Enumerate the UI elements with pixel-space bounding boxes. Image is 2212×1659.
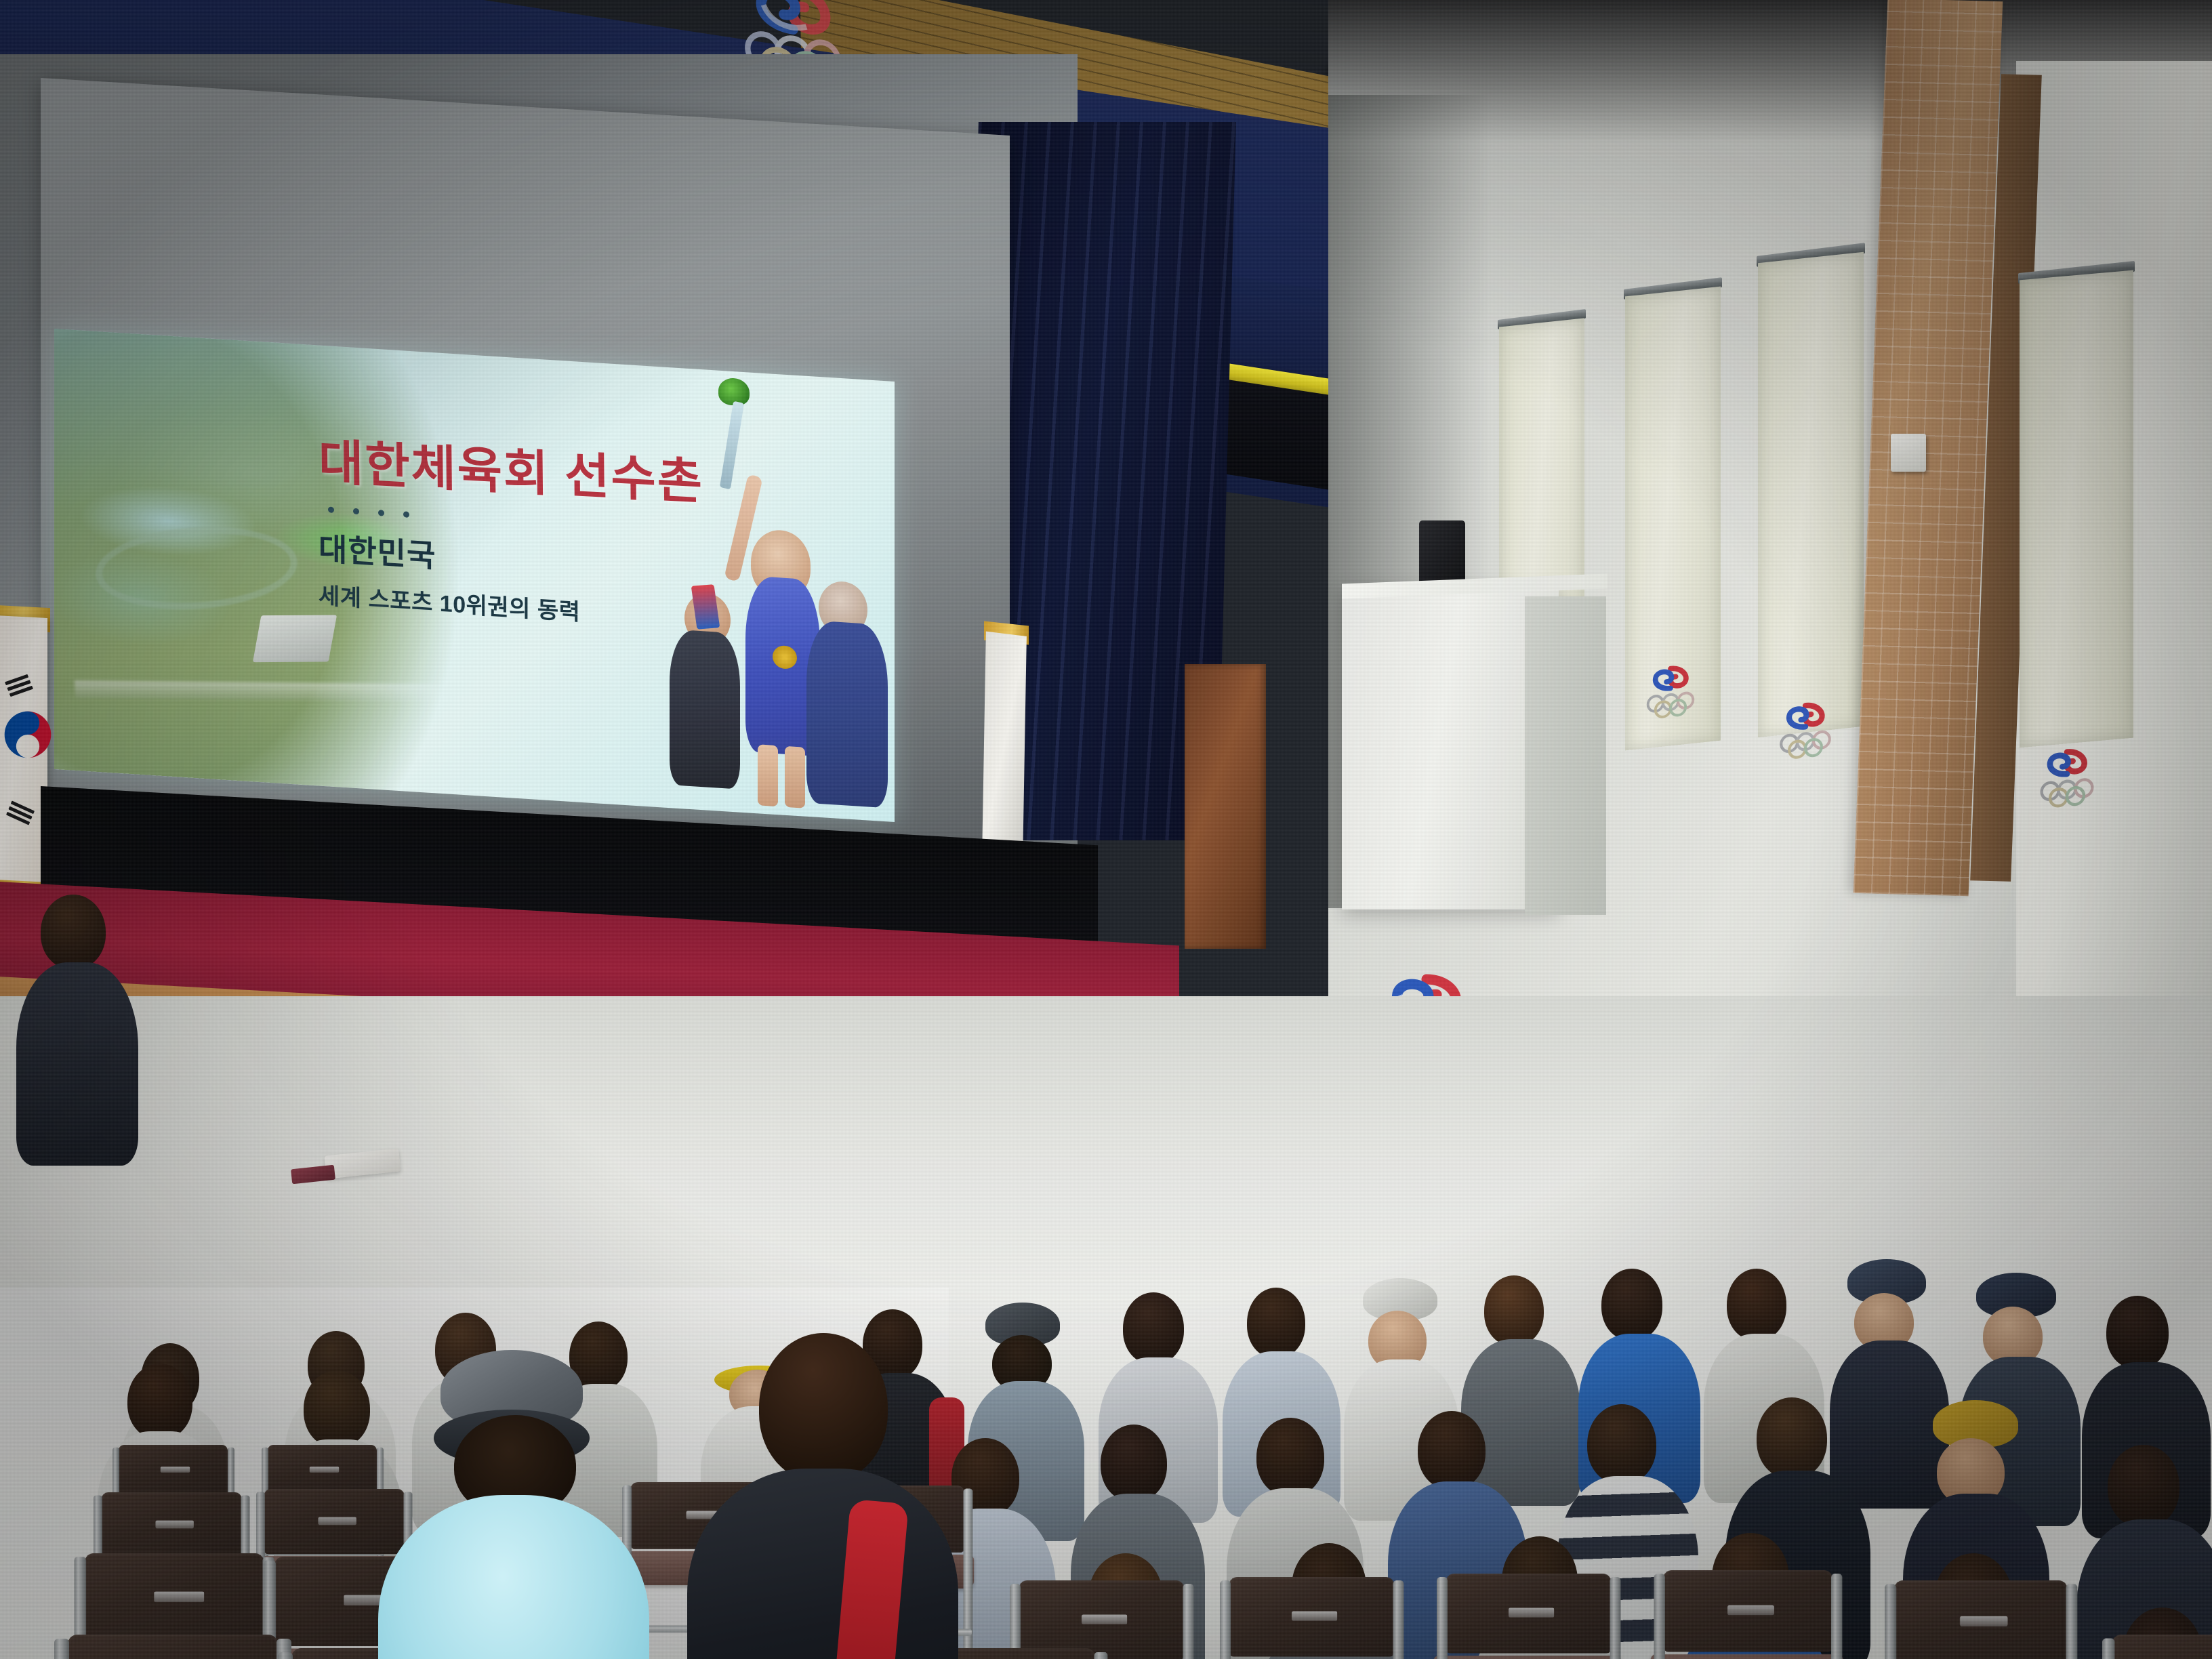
slide-photo-road xyxy=(75,680,515,703)
slide-dot xyxy=(328,506,334,513)
person-head xyxy=(1727,1269,1786,1340)
window-blind[interactable] xyxy=(2020,270,2133,748)
taeguk-icon xyxy=(1,708,54,761)
slide-athlete-leg xyxy=(758,744,778,806)
person-head xyxy=(2106,1296,2169,1369)
slide-text-block: 대한체육회 선수촌 대한민국 세계 스포츠 10위권의 동력 xyxy=(319,420,684,634)
window-blind[interactable] xyxy=(1758,252,1864,737)
person-head xyxy=(1123,1292,1184,1364)
wall-junction-box xyxy=(1891,434,1926,472)
slide-photo-building xyxy=(253,615,337,662)
podium-block-side xyxy=(1525,596,1606,915)
slide-dot xyxy=(378,510,384,516)
person-head xyxy=(1418,1411,1486,1490)
person-head xyxy=(1757,1397,1827,1479)
slide-photo-stadium xyxy=(90,520,303,617)
slide-athlete-leg xyxy=(785,746,805,808)
person-head xyxy=(1247,1288,1305,1358)
auditorium-scene: 대한체육회 선수촌 대한민국 세계 스포츠 10위권의 동력 xyxy=(0,0,2212,1659)
person-head xyxy=(127,1364,192,1439)
slide-athlete-photo xyxy=(637,365,895,822)
koc-emblem-icon xyxy=(2033,743,2101,811)
slide-dot xyxy=(353,508,359,515)
slide-athlete-body xyxy=(670,629,740,790)
person-head xyxy=(304,1370,370,1448)
slide-title: 대한체육회 선수촌 xyxy=(318,422,684,512)
person-head xyxy=(1101,1425,1167,1502)
slide-athlete-body xyxy=(806,620,888,808)
person-head xyxy=(2108,1445,2179,1528)
person-head xyxy=(1484,1275,1544,1346)
person-head xyxy=(759,1333,888,1482)
person-head xyxy=(1601,1269,1662,1340)
koc-organization-flag xyxy=(982,632,1027,860)
slide-torch-handle xyxy=(720,401,744,490)
koc-emblem-icon xyxy=(1773,696,1838,762)
person-head xyxy=(41,895,106,969)
person-torso xyxy=(1830,1340,1949,1509)
person-head xyxy=(1587,1404,1656,1484)
person-head xyxy=(1256,1418,1324,1496)
koc-emblem-icon xyxy=(1640,659,1701,721)
person-torso xyxy=(16,962,138,1166)
slide-dot xyxy=(403,511,409,518)
projected-slide: 대한체육회 선수촌 대한민국 세계 스포츠 10위권의 동력 xyxy=(54,329,895,822)
person-torso xyxy=(1461,1339,1580,1506)
stage-door[interactable] xyxy=(1185,664,1266,949)
